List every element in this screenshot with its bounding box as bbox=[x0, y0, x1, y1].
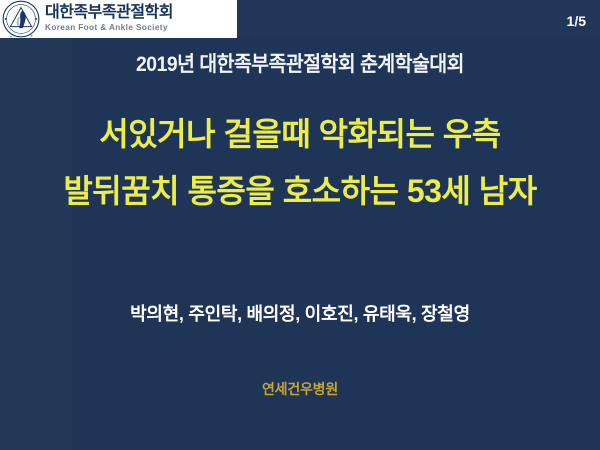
author-list: 박의현, 주인탁, 배의정, 이호진, 유태욱, 장철영 bbox=[0, 300, 600, 326]
conference-title: 2019년 대한족부족관절학회 춘계학술대회 bbox=[24, 48, 576, 78]
affiliation: 연세건우병원 bbox=[0, 379, 600, 399]
page-number: 1/5 bbox=[567, 13, 586, 29]
society-logo-banner: KOREAN FOOT & ANKLE 대한족부족관절학회 Korean Foo… bbox=[0, 0, 237, 38]
slide-title: 서있거나 걸을때 악화되는 우측 발뒤꿈치 통증을 호소하는 53세 남자 bbox=[0, 118, 600, 207]
society-name-korean: 대한족부족관절학회 bbox=[45, 5, 173, 21]
title-line-2: 발뒤꿈치 통증을 호소하는 53세 남자 bbox=[0, 175, 600, 207]
title-line-1: 서있거나 걸을때 악화되는 우측 bbox=[0, 118, 600, 150]
korean-foot-ankle-society-emblem-icon: KOREAN FOOT & ANKLE bbox=[2, 0, 40, 38]
presentation-slide: KOREAN FOOT & ANKLE 대한족부족관절학회 Korean Foo… bbox=[0, 0, 600, 450]
society-logo-text: 대한족부족관절학회 Korean Foot & Ankle Society bbox=[40, 5, 173, 32]
society-name-english: Korean Foot & Ankle Society bbox=[45, 24, 173, 32]
